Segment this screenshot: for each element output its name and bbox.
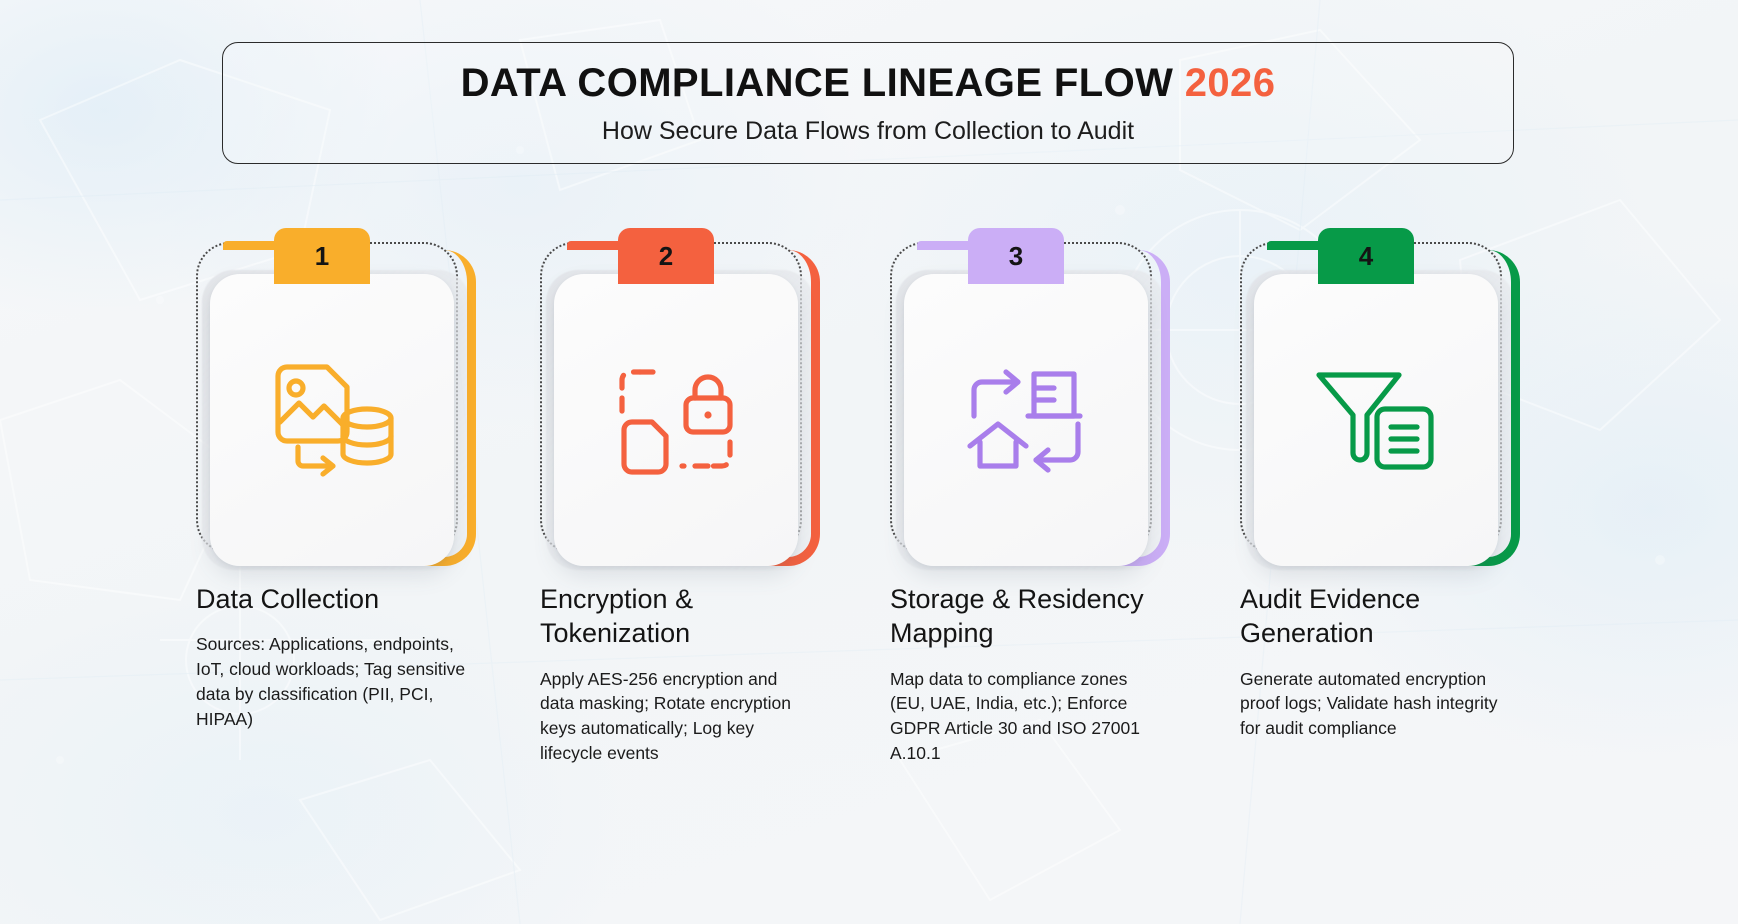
step-card-2[interactable]: 2 Encryption & Tokenization Apply AES-25…	[540, 228, 892, 766]
step-2-title: Encryption & Tokenization	[540, 582, 840, 651]
document-lock-tokenize-icon	[610, 360, 742, 480]
step-2-card-area: 2	[540, 228, 824, 558]
step-card-3[interactable]: 3 Storage & Residency Mapping Map data t…	[890, 228, 1242, 766]
funnel-document-icon	[1310, 360, 1442, 480]
step-2-number: 2	[659, 243, 673, 269]
step-1-description: Sources: Applications, endpoints, IoT, c…	[196, 632, 471, 731]
image-file-to-database-icon	[266, 360, 398, 480]
step-1-card-area: 1	[196, 228, 480, 558]
step-4-title: Audit Evidence Generation	[1240, 582, 1540, 651]
step-2-card-face	[554, 274, 798, 566]
step-3-number: 3	[1009, 243, 1023, 269]
step-4-card-face	[1254, 274, 1498, 566]
step-3-card-area: 3	[890, 228, 1174, 558]
step-3-description: Map data to compliance zones (EU, UAE, I…	[890, 667, 1165, 766]
step-card-4[interactable]: 4 Audit Evidence Generation Generate aut…	[1240, 228, 1592, 741]
step-1-number: 1	[315, 243, 329, 269]
page-subtitle: How Secure Data Flows from Collection to…	[602, 117, 1134, 146]
step-4-number-tab: 4	[1318, 228, 1414, 284]
step-3-number-tab: 3	[968, 228, 1064, 284]
step-3-title: Storage & Residency Mapping	[890, 582, 1190, 651]
step-1-title: Data Collection	[196, 582, 496, 616]
step-2-number-tab: 2	[618, 228, 714, 284]
step-2-description: Apply AES-256 encryption and data maskin…	[540, 667, 815, 766]
header-banner: DATA COMPLIANCE LINEAGE FLOW 2026 How Se…	[222, 42, 1514, 164]
step-4-number: 4	[1359, 243, 1373, 269]
step-4-description: Generate automated encryption proof logs…	[1240, 667, 1515, 742]
step-1-number-tab: 1	[274, 228, 370, 284]
steps-row: 1 Data Collection Sources: Applications,…	[0, 228, 1738, 868]
step-4-card-area: 4	[1240, 228, 1524, 558]
page-title: DATA COMPLIANCE LINEAGE FLOW 2026	[461, 61, 1276, 105]
infographic-canvas: DATA COMPLIANCE LINEAGE FLOW 2026 How Se…	[0, 0, 1738, 924]
step-card-1[interactable]: 1 Data Collection Sources: Applications,…	[196, 228, 548, 732]
step-1-card-face	[210, 274, 454, 566]
page-title-main: DATA COMPLIANCE LINEAGE FLOW	[461, 61, 1185, 105]
page-title-year: 2026	[1185, 61, 1276, 105]
step-3-card-face	[904, 274, 1148, 566]
data-residency-transfer-icon	[960, 360, 1092, 480]
